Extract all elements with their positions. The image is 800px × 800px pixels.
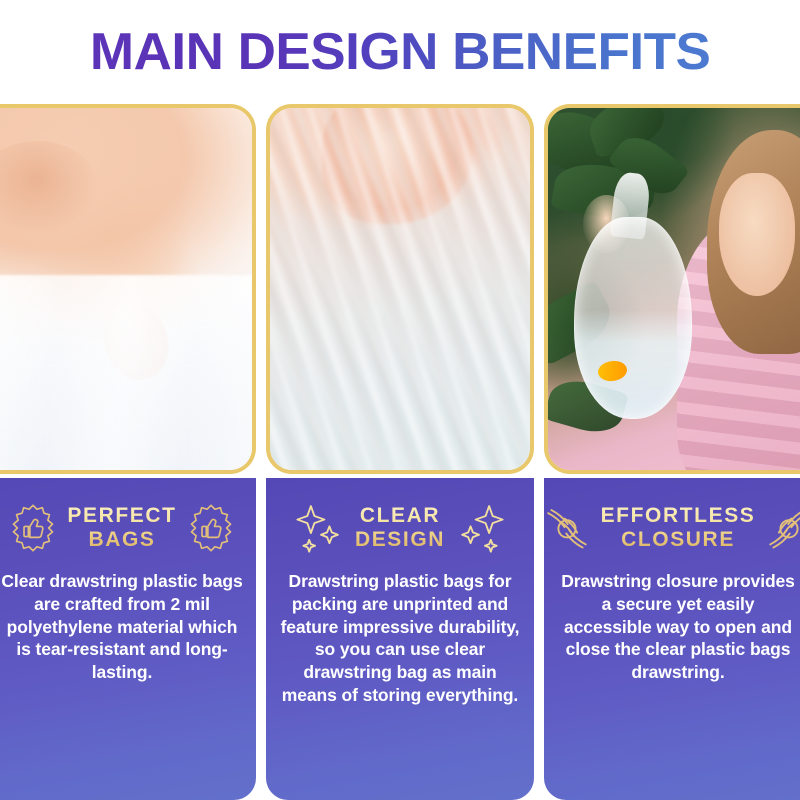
benefit-card-perfect-bags[interactable]: PERFECT BAGS Clear drawstring plastic ba…: [0, 104, 256, 800]
rope-knot-icon: [761, 500, 800, 556]
benefit-cards-row: PERFECT BAGS Clear drawstring plastic ba…: [0, 104, 800, 800]
card-title-perfect-bags: PERFECT BAGS: [65, 504, 178, 552]
card-body-perfect-bags: PERFECT BAGS Clear drawstring plastic ba…: [0, 478, 256, 800]
photo-frame-clear-design: [266, 104, 534, 474]
photo-frame-perfect-bags: [0, 104, 256, 474]
photo-border: [544, 104, 800, 474]
card-description-clear-design: Drawstring plastic bags for packing are …: [278, 570, 522, 707]
photo-girl-holding-bag: [548, 108, 800, 470]
photo-hand-pinching-plastic: [0, 108, 252, 470]
card-heading-row: EFFORTLESS CLOSURE: [556, 492, 800, 564]
sparkles-icon: [293, 500, 349, 556]
benefit-card-effortless-closure[interactable]: EFFORTLESS CLOSURE Drawstring closure pr…: [544, 104, 800, 800]
rope-knot-icon: [544, 500, 595, 556]
card-description-effortless-closure: Drawstring closure provides a secure yet…: [556, 570, 800, 684]
sparkles-icon: [451, 500, 507, 556]
page-title: MAIN DESIGN BENEFITS: [90, 22, 710, 82]
card-title-effortless-closure: EFFORTLESS CLOSURE: [599, 504, 758, 552]
thumbs-up-badge-icon: [5, 500, 61, 556]
card-heading-row: PERFECT BAGS: [0, 492, 244, 564]
photo-frame-effortless-closure: [544, 104, 800, 474]
card-body-clear-design: CLEAR DESIGN Drawstring plastic bags for…: [266, 478, 534, 800]
card-description-perfect-bags: Clear drawstring plastic bags are crafte…: [0, 570, 244, 684]
card-heading-row: CLEAR DESIGN: [278, 492, 522, 564]
benefit-card-clear-design[interactable]: CLEAR DESIGN Drawstring plastic bags for…: [266, 104, 534, 800]
header-bar: MAIN DESIGN BENEFITS: [0, 0, 800, 104]
photo-border: [0, 104, 256, 474]
card-title-clear-design: CLEAR DESIGN: [353, 504, 447, 552]
thumbs-up-badge-icon: [183, 500, 239, 556]
photo-stretched-plastic-film: [270, 108, 530, 470]
photo-border: [266, 104, 534, 474]
card-body-effortless-closure: EFFORTLESS CLOSURE Drawstring closure pr…: [544, 478, 800, 800]
